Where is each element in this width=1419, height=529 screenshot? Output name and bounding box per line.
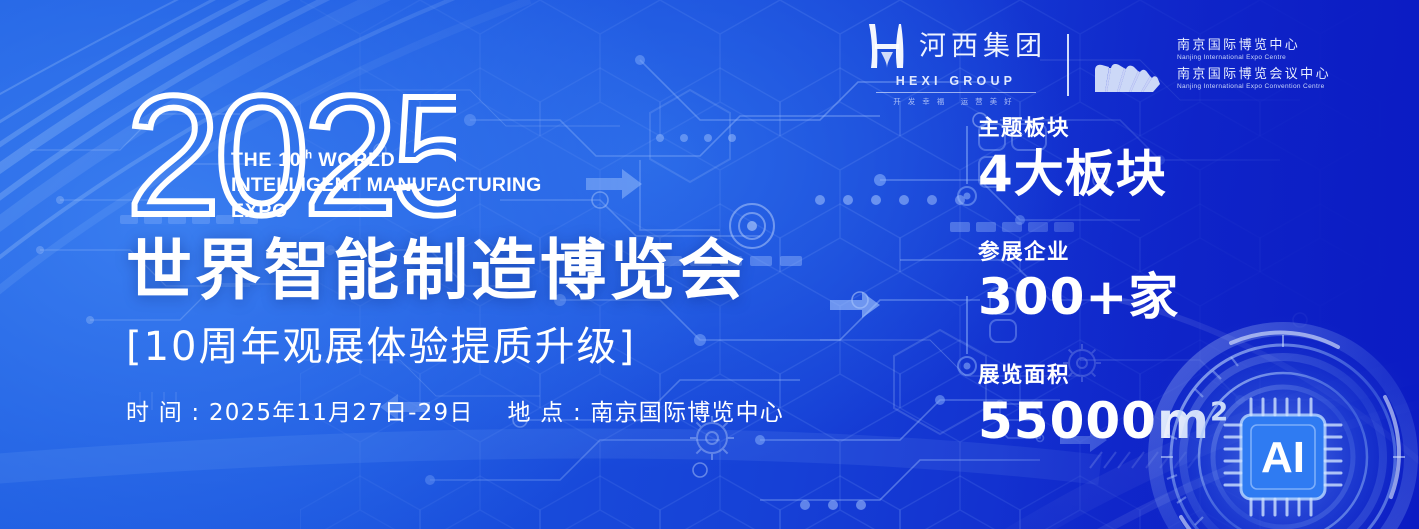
ai-chip-label: AI [1261, 433, 1305, 482]
logo-separator [1067, 34, 1069, 96]
ai-chip-graphic: AI [1133, 307, 1419, 529]
event-meta-line: 时 间 : 2025年11月27日-29日地 点 : 南京国际博览中心 [126, 393, 826, 427]
stat-label: 主题板块 [978, 118, 1308, 140]
english-subtitle: THE 10th WORLD INTELLIGENT MANUFACTURING… [231, 148, 541, 224]
eng-line3: EXPO [231, 199, 541, 224]
hexi-name-cn: 河西集团 [919, 33, 1047, 60]
eng-line1-suffix: WORLD [312, 149, 395, 171]
headline-block: 2025 THE 10th WORLD INTELLIGENT MANUFACT… [126, 88, 826, 427]
eng-line2: INTELLIGENT MANUFACTURING [231, 173, 541, 198]
njiec-line2-en: Nanjing International Expo Convention Ce… [1177, 84, 1331, 91]
main-title-cn: 世界智能制造博览会 [126, 236, 826, 305]
hexi-name-en: HEXI GROUP [896, 74, 1017, 88]
hexi-divider-rule [876, 92, 1036, 93]
expo-banner: 河西集团 HEXI GROUP 开发幸福 运营美好 [0, 0, 1419, 529]
hexi-h-mark-icon [865, 22, 909, 70]
subtitle-cn: [10周年观展体验提质升级] [126, 325, 826, 369]
stat-value-text: 4大板块 [978, 145, 1167, 203]
stat-value: 4大板块 [978, 149, 1308, 199]
event-time: 时 间 : 2025年11月27日-29日 [126, 400, 474, 426]
event-place: 地 点 : 南京国际博览中心 [508, 400, 784, 426]
eng-line1-ordinal: th [301, 150, 312, 162]
nanjing-expo-fan-icon [1089, 34, 1167, 96]
nanjing-expo-logo: 南京国际博览中心 Nanjing International Expo Cent… [1089, 34, 1331, 96]
logo-row: 河西集团 HEXI GROUP 开发幸福 运营美好 [865, 22, 1331, 107]
njiec-line1-en: Nanjing International Expo Centre [1177, 55, 1331, 62]
year-wordmark: 2025 THE 10th WORLD INTELLIGENT MANUFACT… [126, 88, 826, 240]
eng-line1-prefix: THE 10 [231, 149, 301, 171]
njiec-line2-cn: 南京国际博览会议中心 [1177, 68, 1331, 81]
hexi-tagline: 开发幸福 运营美好 [893, 96, 1018, 107]
stat-item: 主题板块 4大板块 [978, 118, 1308, 199]
njiec-line1-cn: 南京国际博览中心 [1177, 39, 1331, 52]
stat-label: 参展企业 [978, 242, 1308, 264]
hexi-group-logo: 河西集团 HEXI GROUP 开发幸福 运营美好 [865, 22, 1047, 107]
